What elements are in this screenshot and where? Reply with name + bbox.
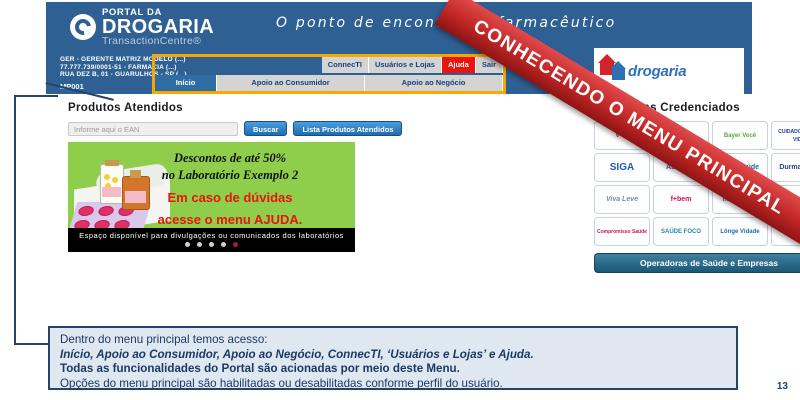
brand-line-2: DROGARIA [102,17,214,37]
promo-line-1: Descontos de até 50% [108,150,352,167]
partner-name: drogaria [628,63,686,80]
swirl-icon [70,14,96,40]
brand-line-3: TransactionCentre® [102,36,214,47]
carousel-dot[interactable] [209,242,214,247]
explanation-line-4-d: conforme [362,377,417,390]
products-search-row: Informe aqui o EAN Buscar Lista Produtos… [68,121,488,136]
program-logo[interactable]: Bayer Você [712,121,768,150]
products-section: Produtos Atendidos Informe aqui o EAN Bu… [68,102,488,252]
program-logo[interactable]: CUIDADOS PELA VIDA [771,121,800,150]
promo-banner-footer: Espaço disponível para divulgações ou co… [68,228,355,252]
program-logo-label: Compromisso Saúde [597,228,647,236]
program-logo-label: Viva Leve [606,196,638,204]
explanation-line-4-b: do menu principal [100,377,198,390]
explanation-box: Dentro do menu principal temos acesso: I… [48,326,738,390]
explanation-line-2: Início, Apoio ao Consumidor, Apoio ao Ne… [60,348,726,363]
promo-line-2: no Laboratório Exemplo 2 [108,167,352,184]
promo-footer-text: Espaço disponível para divulgações ou co… [68,228,355,240]
program-logo-label: Bayer Você [724,132,756,140]
program-logo[interactable]: SIGA [594,153,650,182]
page-number: 13 [777,381,788,392]
explanation-line-1: Dentro do menu principal temos acesso: [60,333,726,348]
search-input[interactable]: Informe aqui o EAN [68,122,238,136]
program-logo[interactable]: SAÚDE FOCO [653,217,709,246]
explanation-line-4: Opções do menu principal são habilitadas… [60,377,726,392]
program-logo[interactable]: Lönge Vidade [712,217,768,246]
portal-header: PORTAL DA DROGARIA TransactionCentre® O … [46,2,752,54]
program-logo-label: Durma Bem [779,164,800,172]
program-logo-label: SIGA [610,164,634,172]
explanation-line-3: Todas as funcionalidades do Portal são a… [60,362,726,377]
list-products-button[interactable]: Lista Produtos Atendidos [293,121,402,136]
explanation-line-4-e: perfil do usuário. [417,377,503,390]
callout-leader-line [46,82,110,98]
program-logo[interactable]: Durma Bem [771,153,800,182]
program-logo-label: Lönge Vidade [720,228,759,236]
products-title: Produtos Atendidos [68,102,488,114]
slide-canvas: PORTAL DA DROGARIA TransactionCentre® O … [0,0,800,400]
carousel-dot[interactable] [221,242,226,247]
program-logo-label: CUIDADOS PELA VIDA [772,128,800,144]
promo-line-3: Em caso de dúvidas [108,190,352,206]
carousel-dot-active[interactable] [233,242,238,247]
carousel-dot[interactable] [197,242,202,247]
carousel-dots[interactable] [68,242,355,247]
program-logo-label: SAÚDE FOCO [661,228,701,236]
menu-highlight-box [152,54,506,94]
promo-banner-text: Descontos de até 50% no Laboratório Exem… [108,150,352,228]
callout-bracket [14,95,58,345]
program-logo[interactable]: Compromisso Saúde [594,217,650,246]
program-logo[interactable]: Viva Leve [594,185,650,214]
carousel-dot[interactable] [185,242,190,247]
house-icon-secondary [612,68,625,80]
portal-logo: PORTAL DA DROGARIA TransactionCentre® [70,8,214,46]
search-button[interactable]: Buscar [244,121,287,136]
explanation-line-4-c: são habilitadas ou desabilitadas [198,377,362,390]
promo-line-4: acesse o menu AJUDA. [108,212,352,228]
promo-banner[interactable]: Descontos de até 50% no Laboratório Exem… [68,142,355,252]
explanation-line-4-a: Opções [60,377,100,390]
program-logo[interactable]: f+bem [653,185,709,214]
program-logo-label: f+bem [671,196,692,204]
operators-button[interactable]: Operadoras de Saúde e Empresas [594,253,800,273]
